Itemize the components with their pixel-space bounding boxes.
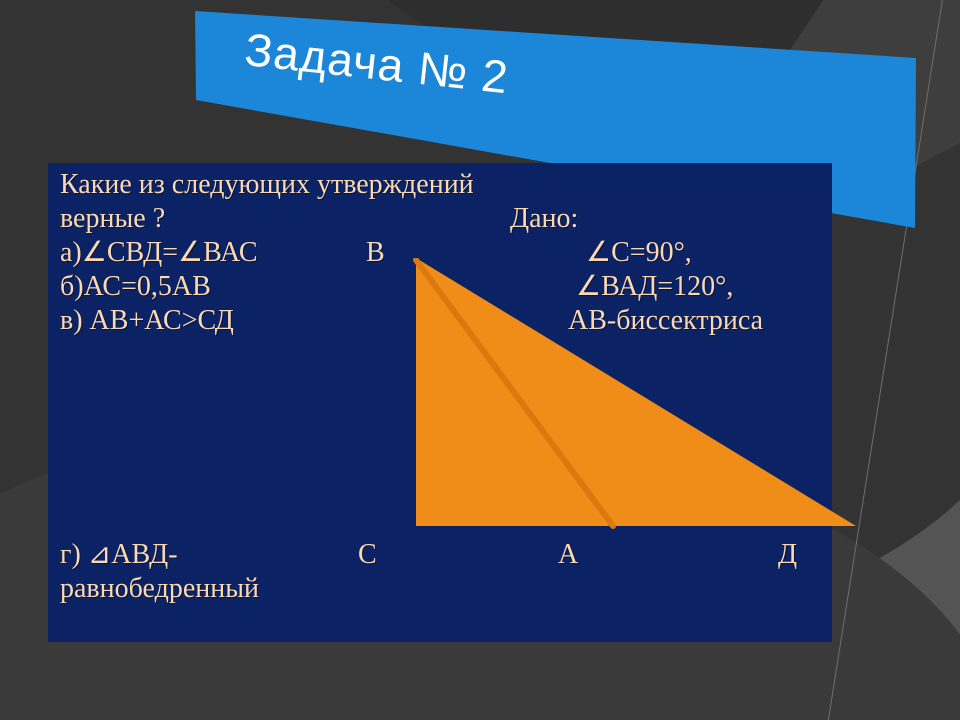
given-item-1: ∠С=90°, — [586, 236, 692, 270]
statement-v: в) АВ+АС>СД — [60, 304, 234, 338]
vertex-label-B: В — [366, 236, 385, 270]
statement-g-line-2: равнобедренный — [60, 572, 259, 606]
statement-g-line-1: г) ⊿АВД- — [60, 538, 178, 572]
vertex-label-C: С — [358, 538, 377, 572]
slide-canvas: Задача № 2 Какие из следующих утверждени… — [0, 0, 960, 720]
given-heading: Дано: — [510, 202, 578, 236]
statement-a: а)∠СВД=∠ВАС — [60, 236, 258, 270]
question-line-1: Какие из следующих утверждений — [60, 168, 474, 202]
statement-b: б)АС=0,5АВ — [60, 270, 211, 304]
content-panel: Какие из следующих утверждений верные ? … — [48, 163, 832, 642]
question-line-2: верные ? — [60, 202, 165, 236]
vertex-label-A: А — [558, 538, 578, 572]
given-item-3: АВ-биссектриса — [568, 304, 763, 338]
vertex-label-D: Д — [778, 538, 797, 572]
given-item-2: ∠ВАД=120°, — [576, 270, 733, 304]
